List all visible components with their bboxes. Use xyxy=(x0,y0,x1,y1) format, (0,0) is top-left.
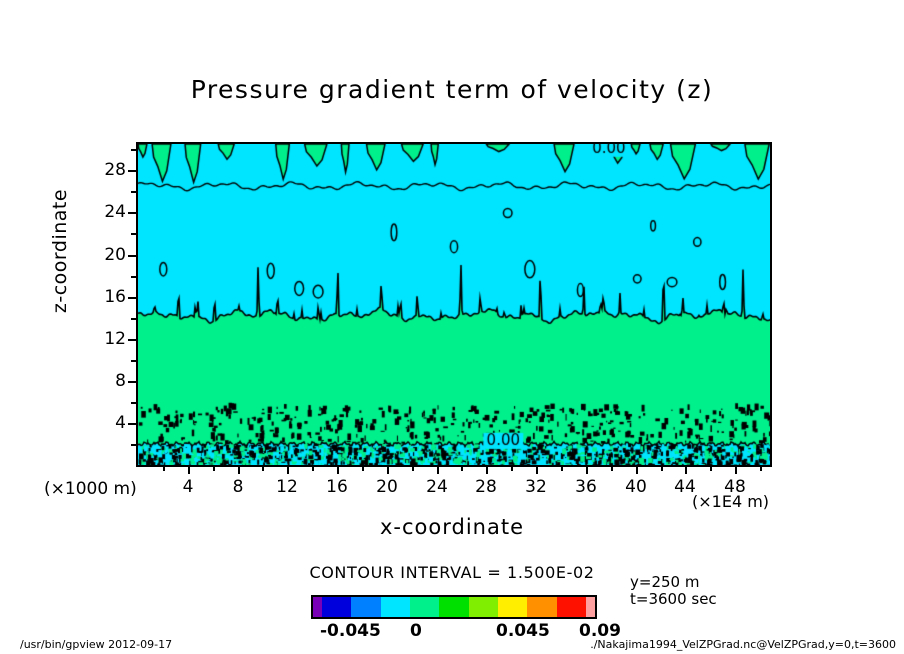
x-axis-minor-tick xyxy=(710,467,712,471)
x-axis-minor-tick xyxy=(312,467,314,471)
x-axis-tick xyxy=(387,467,389,474)
x-axis-unit-label: (×1E4 m) xyxy=(692,492,769,511)
colorbar-swatch-dark-blue[interactable] xyxy=(322,597,351,617)
y-axis-minor-tick xyxy=(131,276,136,278)
x-axis-tick xyxy=(636,467,638,474)
y-axis-tick xyxy=(128,255,136,257)
y-axis-tick-label: 4 xyxy=(90,413,126,433)
x-axis-tick xyxy=(586,467,588,474)
y-axis-tick-label: 20 xyxy=(90,245,126,265)
x-axis-minor-tick xyxy=(163,467,165,471)
y-axis-tick xyxy=(128,339,136,341)
y-axis-tick-label: 16 xyxy=(90,287,126,307)
x-axis-tick xyxy=(337,467,339,474)
x-axis-tick xyxy=(486,467,488,474)
y-axis-minor-tick xyxy=(131,402,136,404)
x-axis-tick xyxy=(287,467,289,474)
contour-interval-label: CONTOUR INTERVAL = 1.500E-02 xyxy=(0,563,904,582)
colorbar-swatch-purple[interactable] xyxy=(313,597,322,617)
y-axis-title: z-coordinate xyxy=(49,151,71,351)
y-axis-unit-label: (×1000 m) xyxy=(44,479,137,499)
x-axis-tick xyxy=(238,467,240,474)
footer-command-text: /usr/bin/gpview 2012-09-17 xyxy=(20,638,172,651)
y-axis-minor-tick xyxy=(131,149,136,151)
x-axis-minor-tick xyxy=(760,467,762,471)
x-axis-tick-label: 4 xyxy=(168,477,208,497)
colorbar-tick-labels: -0.04500.0450.09 xyxy=(290,621,620,643)
colorbar-tick-label: -0.045 xyxy=(320,621,381,641)
colorbar-tick-label: 0.045 xyxy=(496,621,550,641)
x-axis-tick-label: 12 xyxy=(267,477,307,497)
x-axis-tick-label: 8 xyxy=(218,477,258,497)
contour-field-canvas xyxy=(138,144,770,465)
x-axis-tick-label: 20 xyxy=(367,477,407,497)
y-axis-tick-label: 8 xyxy=(90,371,126,391)
colorbar[interactable] xyxy=(311,595,597,619)
x-axis-tick xyxy=(188,467,190,474)
x-axis-tick xyxy=(536,467,538,474)
y-axis-minor-tick xyxy=(131,360,136,362)
x-axis-minor-tick xyxy=(213,467,215,471)
x-axis-minor-tick xyxy=(511,467,513,471)
x-axis-minor-tick xyxy=(412,467,414,471)
colorbar-swatch-spring-green[interactable] xyxy=(410,597,439,617)
colorbar-swatch-cyan[interactable] xyxy=(381,597,410,617)
y-axis-tick xyxy=(128,170,136,172)
y-axis-minor-tick xyxy=(131,191,136,193)
colorbar-swatch-yellow-green[interactable] xyxy=(469,597,498,617)
y-axis-tick xyxy=(128,297,136,299)
colorbar-swatch-orange[interactable] xyxy=(527,597,556,617)
y-axis-tick xyxy=(128,381,136,383)
x-axis-minor-tick xyxy=(661,467,663,471)
x-axis-tick xyxy=(685,467,687,474)
x-axis-minor-tick xyxy=(461,467,463,471)
x-axis-tick-label: 36 xyxy=(566,477,606,497)
colorbar-swatch-pink[interactable] xyxy=(586,597,595,617)
colorbar-swatch-yellow[interactable] xyxy=(498,597,527,617)
x-axis-minor-tick xyxy=(262,467,264,471)
x-axis-tick-label: 24 xyxy=(417,477,457,497)
annotation-y-value: y=250 m xyxy=(630,574,717,591)
y-axis-minor-tick xyxy=(131,233,136,235)
x-axis-tick-label: 16 xyxy=(317,477,357,497)
x-axis-title: x-coordinate xyxy=(0,515,904,539)
y-axis-tick-label: 12 xyxy=(90,329,126,349)
x-axis-tick-label: 32 xyxy=(516,477,556,497)
footer-source-text: ./Nakajima1994_VelZPGrad.nc@VelZPGrad,y=… xyxy=(590,638,896,651)
colorbar-tick-label: 0 xyxy=(410,621,422,641)
x-axis-tick xyxy=(437,467,439,474)
y-axis-tick-label: 24 xyxy=(90,202,126,222)
y-axis-minor-tick xyxy=(131,318,136,320)
annotation-t-value: t=3600 sec xyxy=(630,591,717,608)
colorbar-swatch-green[interactable] xyxy=(439,597,468,617)
colorbar-swatch-blue[interactable] xyxy=(351,597,380,617)
x-axis-minor-tick xyxy=(561,467,563,471)
contour-plot-area[interactable] xyxy=(136,142,772,467)
x-axis-minor-tick xyxy=(611,467,613,471)
y-axis-minor-tick xyxy=(131,444,136,446)
x-axis-tick-label: 28 xyxy=(466,477,506,497)
y-axis-tick xyxy=(128,212,136,214)
y-axis-tick xyxy=(128,423,136,425)
y-axis-tick-label: 28 xyxy=(90,160,126,180)
page-title: Pressure gradient term of velocity (z) xyxy=(0,75,904,104)
colorbar-swatch-red[interactable] xyxy=(557,597,586,617)
plot-annotations: y=250 m t=3600 sec xyxy=(630,574,717,608)
x-axis-tick-label: 40 xyxy=(616,477,656,497)
x-axis-tick xyxy=(735,467,737,474)
x-axis-minor-tick xyxy=(362,467,364,471)
